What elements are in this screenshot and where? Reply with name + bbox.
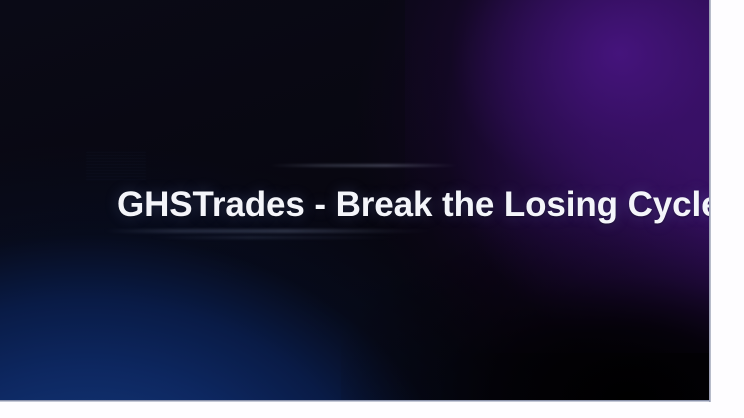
page-right-margin (711, 0, 744, 418)
slide-title-block: GHSTrades - Break the Losing Cycle (117, 181, 637, 227)
page-bottom-margin (0, 402, 744, 418)
page-canvas: GHSTrades - Break the Losing Cycle (0, 0, 744, 418)
dark-vignette-bottom-right (341, 201, 710, 402)
background-texture-left (86, 152, 146, 182)
presentation-slide[interactable]: GHSTrades - Break the Losing Cycle (0, 0, 710, 401)
slide-title: GHSTrades - Break the Losing Cycle (117, 187, 710, 222)
